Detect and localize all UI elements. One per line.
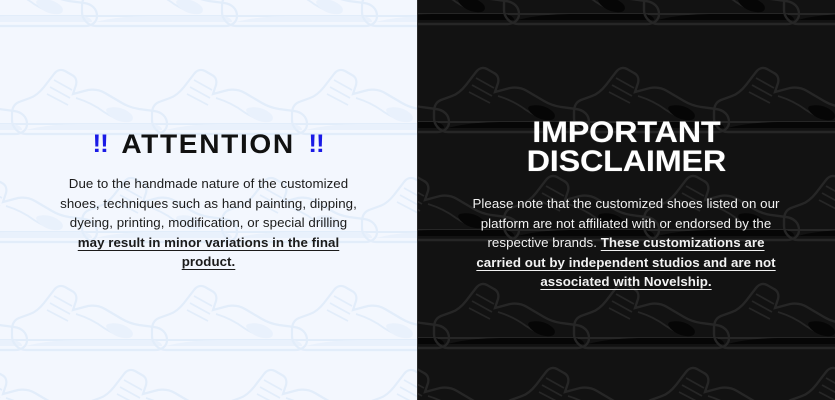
disclaimer-heading-line2: DISCLAIMER: [526, 147, 725, 176]
attention-panel: !! ATTENTION !! Due to the handmade natu…: [0, 0, 417, 400]
disclaimer-banner: !! ATTENTION !! Due to the handmade natu…: [0, 0, 835, 400]
attention-body-normal: Due to the handmade nature of the custom…: [60, 176, 357, 230]
disclaimer-heading-line1: IMPORTANT: [526, 118, 725, 147]
attention-heading-word: ATTENTION: [122, 131, 296, 158]
disclaimer-body: Please note that the customized shoes li…: [467, 194, 785, 292]
attention-body: Due to the handmade nature of the custom…: [57, 174, 360, 272]
attention-content: !! ATTENTION !! Due to the handmade natu…: [0, 0, 417, 400]
disclaimer-panel: IMPORTANT DISCLAIMER Please note that th…: [417, 0, 835, 400]
attention-heading: !! ATTENTION !!: [93, 131, 324, 158]
disclaimer-content: IMPORTANT DISCLAIMER Please note that th…: [417, 0, 835, 400]
double-exclamation-left-icon: !!: [93, 132, 108, 157]
double-exclamation-right-icon: !!: [309, 132, 324, 157]
attention-body-emphasis: may result in minor variations in the fi…: [78, 235, 340, 270]
disclaimer-heading: IMPORTANT DISCLAIMER: [526, 118, 725, 176]
panel-divider: [417, 0, 418, 400]
